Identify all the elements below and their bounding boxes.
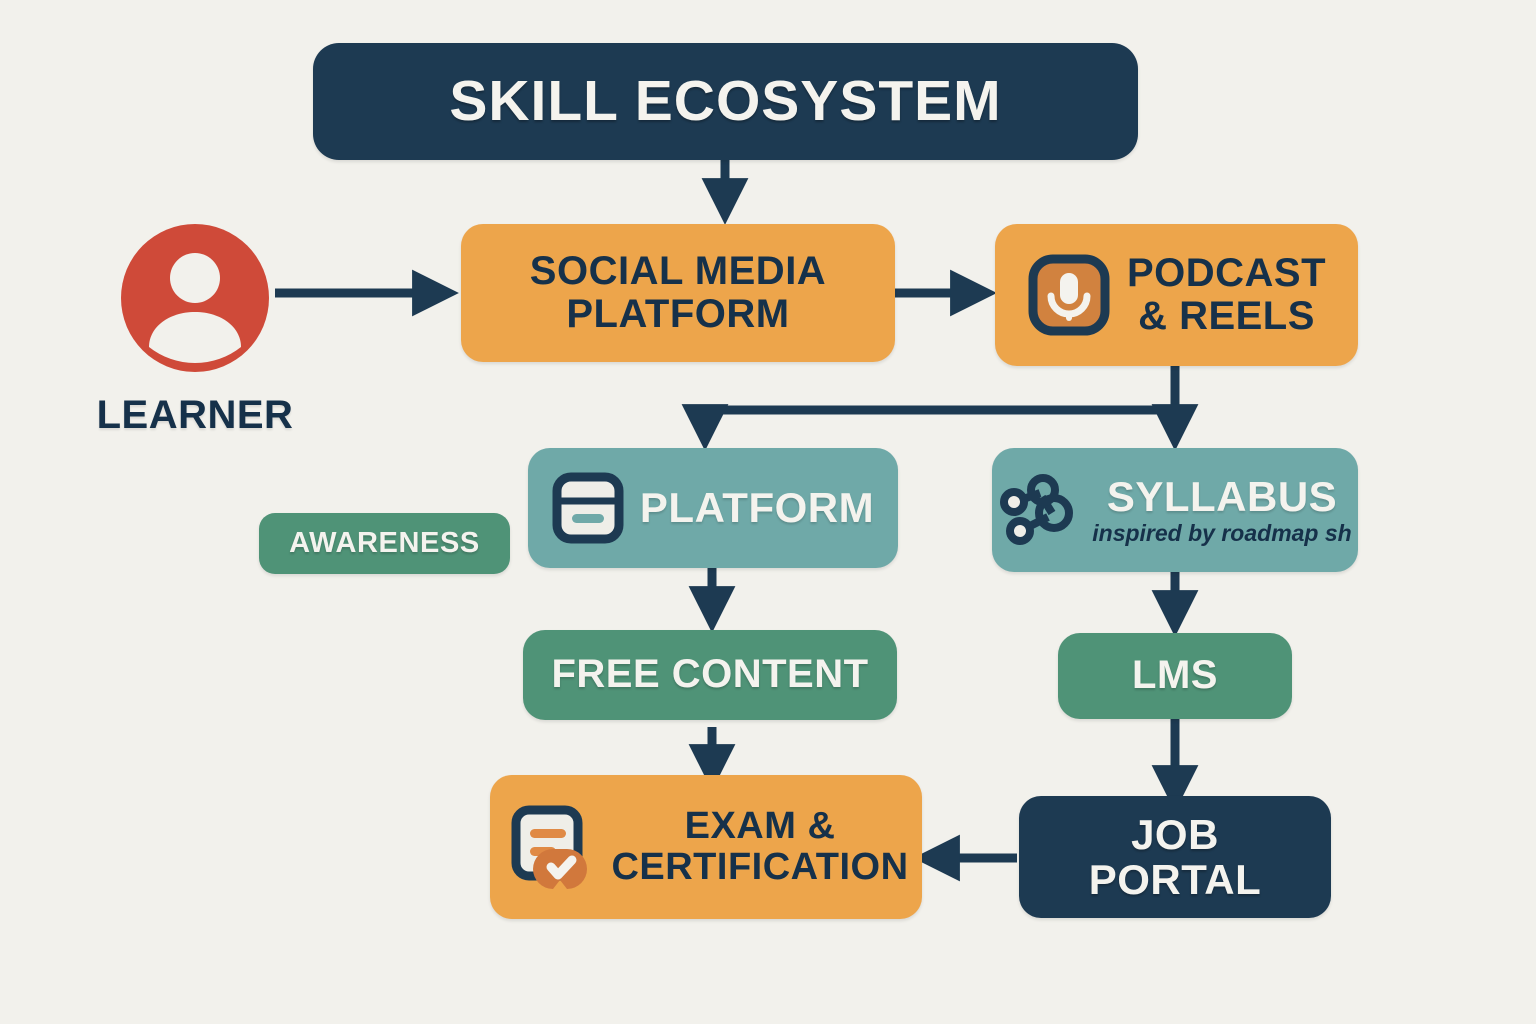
syllabus-label: SYLLABUS: [1107, 474, 1337, 519]
learner-label: LEARNER: [60, 393, 330, 438]
status-badge-awareness: AWARENESS: [259, 513, 510, 574]
podcast-text: PODCAST & REELS: [1127, 252, 1326, 338]
network-nodes-icon: [998, 471, 1076, 549]
node-exam-and-certification[interactable]: EXAM & CERTIFICATION: [490, 775, 922, 919]
node-title-label: SKILL ECOSYSTEM: [449, 71, 1001, 133]
free-content-label: FREE CONTENT: [551, 653, 868, 696]
node-lms[interactable]: LMS: [1058, 633, 1292, 719]
certificate-icon: [503, 801, 595, 893]
microphone-icon: [1027, 253, 1111, 337]
podcast-line1: PODCAST: [1127, 252, 1326, 295]
browser-window-icon: [552, 472, 624, 544]
node-skill-ecosystem: SKILL ECOSYSTEM: [313, 43, 1138, 160]
exam-line1: EXAM &: [685, 806, 836, 847]
social-media-line2: PLATFORM: [566, 293, 789, 336]
exam-text: EXAM & CERTIFICATION: [611, 806, 908, 888]
exam-line2: CERTIFICATION: [611, 847, 908, 888]
node-social-media-platform[interactable]: SOCIAL MEDIA PLATFORM: [461, 224, 895, 362]
awareness-badge-label: AWARENESS: [289, 527, 480, 560]
social-media-text: SOCIAL MEDIA PLATFORM: [530, 250, 826, 336]
job-portal-text: JOB PORTAL: [1089, 812, 1262, 903]
job-portal-line2: PORTAL: [1089, 857, 1262, 902]
node-job-portal[interactable]: JOB PORTAL: [1019, 796, 1331, 918]
node-podcast-and-reels[interactable]: PODCAST & REELS: [995, 224, 1358, 366]
platform-label: PLATFORM: [640, 485, 874, 530]
lms-label: LMS: [1132, 654, 1218, 697]
user-avatar-icon: [118, 221, 272, 375]
node-syllabus[interactable]: SYLLABUS inspired by roadmap sh: [992, 448, 1358, 572]
syllabus-subtitle: inspired by roadmap sh: [1092, 521, 1351, 546]
node-free-content[interactable]: FREE CONTENT: [523, 630, 897, 720]
arrow-podcast-to-platform: [705, 366, 1175, 432]
podcast-line2: & REELS: [1138, 295, 1315, 338]
job-portal-line1: JOB: [1131, 812, 1219, 857]
syllabus-text: SYLLABUS inspired by roadmap sh: [1092, 474, 1351, 546]
diagram-canvas: SKILL ECOSYSTEM LEARNER AWARENESS SOCIAL…: [0, 0, 1536, 1024]
node-platform[interactable]: PLATFORM: [528, 448, 898, 568]
social-media-line1: SOCIAL MEDIA: [530, 250, 826, 293]
